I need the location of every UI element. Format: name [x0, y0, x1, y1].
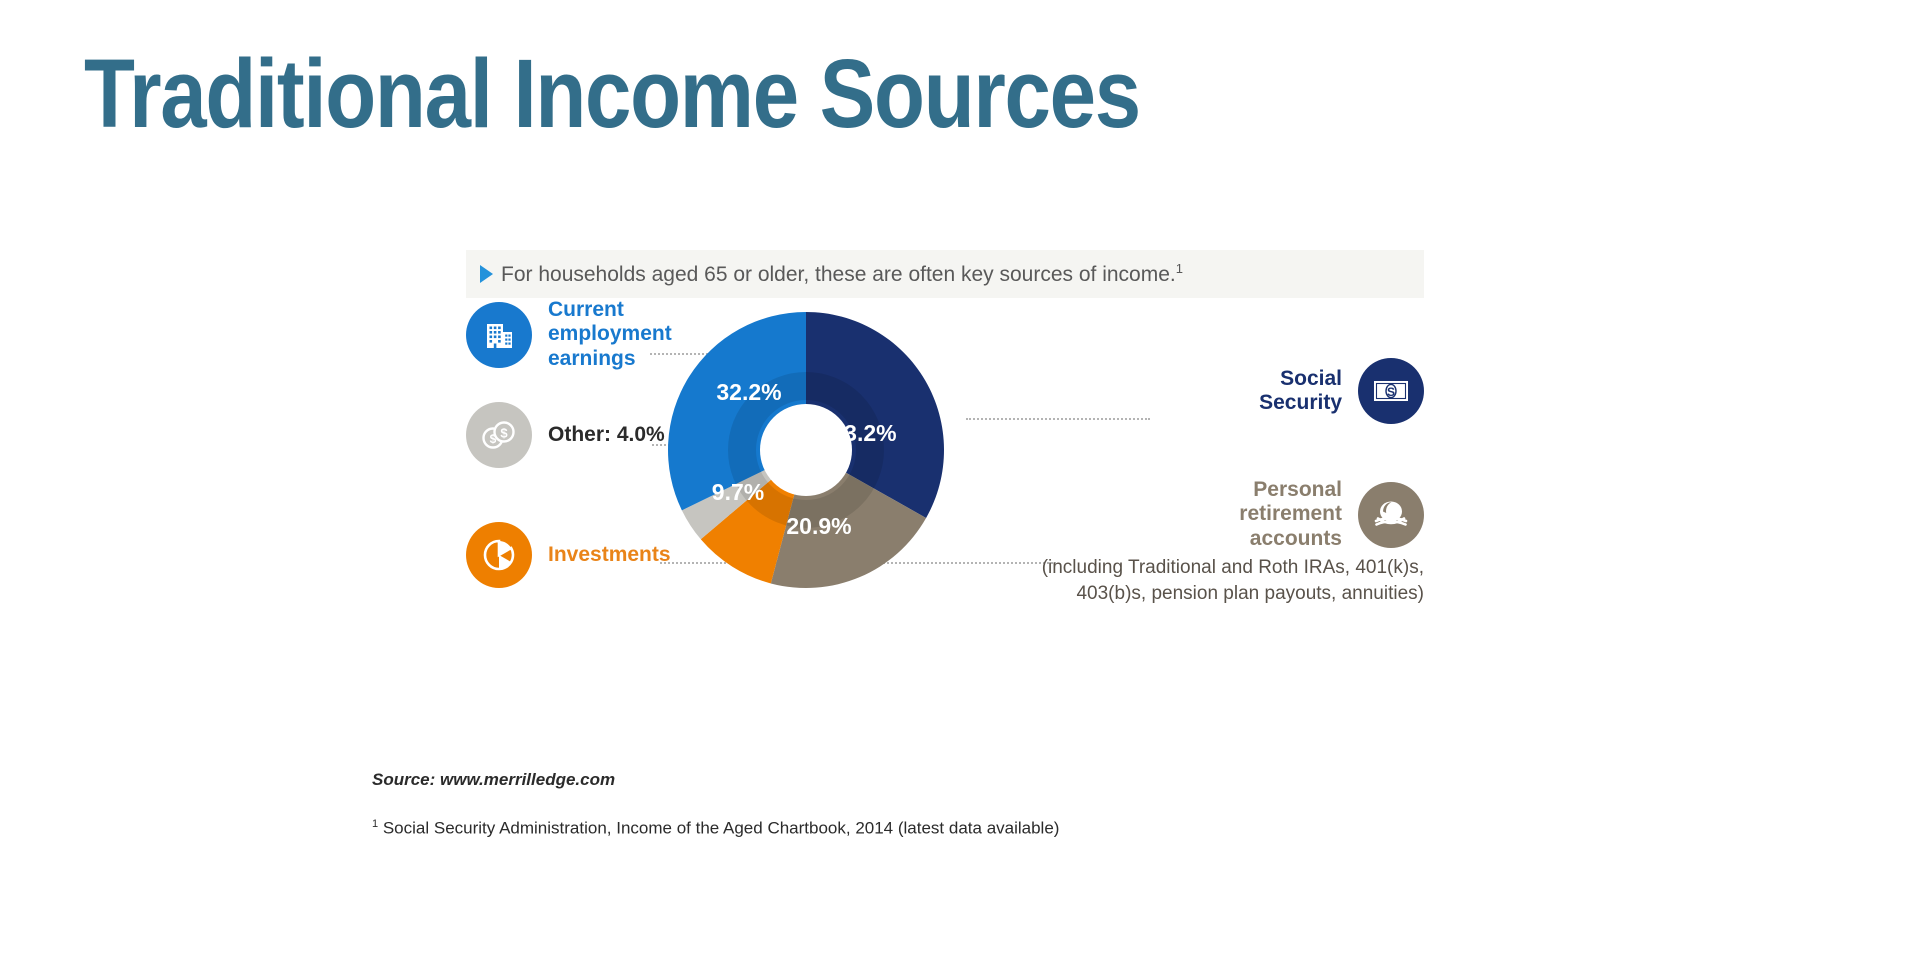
- slice-label-social-security: 33.2%: [831, 420, 896, 446]
- legend-label-investments: Investments: [548, 543, 671, 567]
- legend-item-investments[interactable]: Investments: [466, 522, 671, 588]
- personal-retirement-note: (including Traditional and Roth IRAs, 40…: [1004, 555, 1424, 606]
- page-title: Traditional Income Sources: [84, 44, 1140, 145]
- callout-footnote-marker: 1: [1176, 261, 1183, 276]
- legend-label-line: Current: [548, 298, 624, 321]
- legend-item-employment[interactable]: Current employment earnings: [466, 298, 672, 371]
- donut-chart: 33.2% 20.9% 9.7% 32.2%: [666, 310, 946, 590]
- legend-label-line: retirement: [1239, 502, 1342, 525]
- legend-item-social-security[interactable]: Social Security S: [1259, 358, 1424, 424]
- callout-bar: For households aged 65 or older, these a…: [466, 250, 1424, 298]
- legend-label-line: employment: [548, 322, 672, 345]
- legend-label-line: earnings: [548, 347, 636, 370]
- footnote-text: Social Security Administration, Income o…: [378, 819, 1059, 838]
- office-building-icon: [466, 302, 532, 368]
- slice-label-investments: 9.7%: [712, 479, 764, 505]
- note-line: 403(b)s, pension plan payouts, annuities…: [1076, 583, 1424, 604]
- dollar-bill-icon: S: [1358, 358, 1424, 424]
- legend-item-other[interactable]: $ $ Other: 4.0%: [466, 402, 665, 468]
- footnote-line: 1 Social Security Administration, Income…: [372, 818, 1059, 839]
- note-line: (including Traditional and Roth IRAs, 40…: [1042, 557, 1424, 578]
- triangle-bullet-icon: [480, 265, 493, 283]
- slice-label-personal-retirement: 20.9%: [786, 513, 851, 539]
- legend-label-social-security: Social Security: [1259, 367, 1342, 416]
- donut-hole: [760, 404, 852, 496]
- svg-text:$: $: [500, 426, 508, 441]
- callout-text: For households aged 65 or older, these a…: [501, 261, 1183, 287]
- coins-dollar-icon: $ $: [466, 402, 532, 468]
- donut-chart-svg: 33.2% 20.9% 9.7% 32.2%: [666, 310, 946, 590]
- legend-label-line: accounts: [1250, 527, 1342, 550]
- svg-text:S: S: [1387, 385, 1395, 399]
- legend-label-line: Personal: [1253, 478, 1342, 501]
- legend-label-other: Other: 4.0%: [548, 423, 665, 447]
- infographic-container: For households aged 65 or older, these a…: [466, 250, 1424, 720]
- callout-text-main: For households aged 65 or older, these a…: [501, 263, 1176, 286]
- leader-social: [966, 418, 1150, 420]
- legend-label-line: Security: [1259, 391, 1342, 414]
- source-line: Source: www.merrilledge.com: [372, 770, 615, 790]
- nest-egg-icon: [1358, 482, 1424, 548]
- slice-label-employment: 32.2%: [716, 379, 781, 405]
- legend-label-employment: Current employment earnings: [548, 298, 672, 371]
- legend-item-personal-retirement[interactable]: Personal retirement accounts: [1239, 478, 1424, 551]
- legend-label-personal-retirement: Personal retirement accounts: [1239, 478, 1342, 551]
- pie-chart-icon: [466, 522, 532, 588]
- legend-label-line: Social: [1280, 367, 1342, 390]
